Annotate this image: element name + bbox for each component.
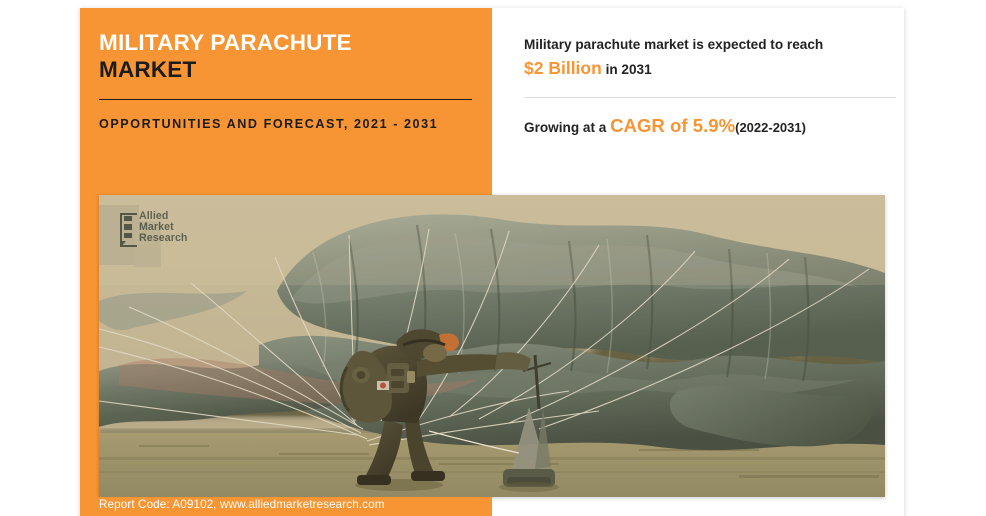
- market-value-amount: $2 Billion: [524, 58, 602, 78]
- cagr-years: (2022-2031): [735, 120, 806, 135]
- report-banner-card: MILITARY PARACHUTEMARKET OPPORTUNITIES A…: [80, 8, 904, 516]
- watermark-text: Allied Market Research: [139, 211, 188, 244]
- stats-divider: [524, 97, 896, 98]
- allied-market-research-logo-icon: [120, 213, 137, 243]
- cagr-value: CAGR of 5.9%: [610, 115, 735, 136]
- report-code-text: Report Code: A09102, www.alliedmarketres…: [99, 498, 385, 511]
- watermark-line-3: Research: [139, 233, 188, 244]
- market-value-prefix: Military parachute market is expected to…: [524, 37, 823, 52]
- page-title: MILITARY PARACHUTEMARKET: [99, 30, 477, 83]
- title-line-light: MILITARY PARACHUTE: [99, 30, 352, 55]
- market-value-statement: Military parachute market is expected to…: [524, 34, 902, 83]
- title-divider: [99, 99, 472, 100]
- cagr-statement: Growing at a CAGR of 5.9%(2022-2031): [524, 115, 904, 137]
- title-line-dark: MARKET: [99, 57, 196, 82]
- title-heading: MILITARY PARACHUTEMARKET: [99, 30, 477, 83]
- parachute-photo: Allied Market Research: [99, 195, 885, 497]
- market-value-suffix: in 2031: [606, 62, 652, 77]
- banner-stage: MILITARY PARACHUTEMARKET OPPORTUNITIES A…: [0, 0, 986, 516]
- watermark: Allied Market Research: [120, 211, 188, 244]
- subtitle-text: OPPORTUNITIES AND FORECAST, 2021 - 2031: [99, 115, 479, 135]
- cagr-prefix: Growing at a: [524, 120, 606, 135]
- stats-panel: Military parachute market is expected to…: [492, 8, 904, 190]
- parachute-photo-illustration: [99, 195, 885, 497]
